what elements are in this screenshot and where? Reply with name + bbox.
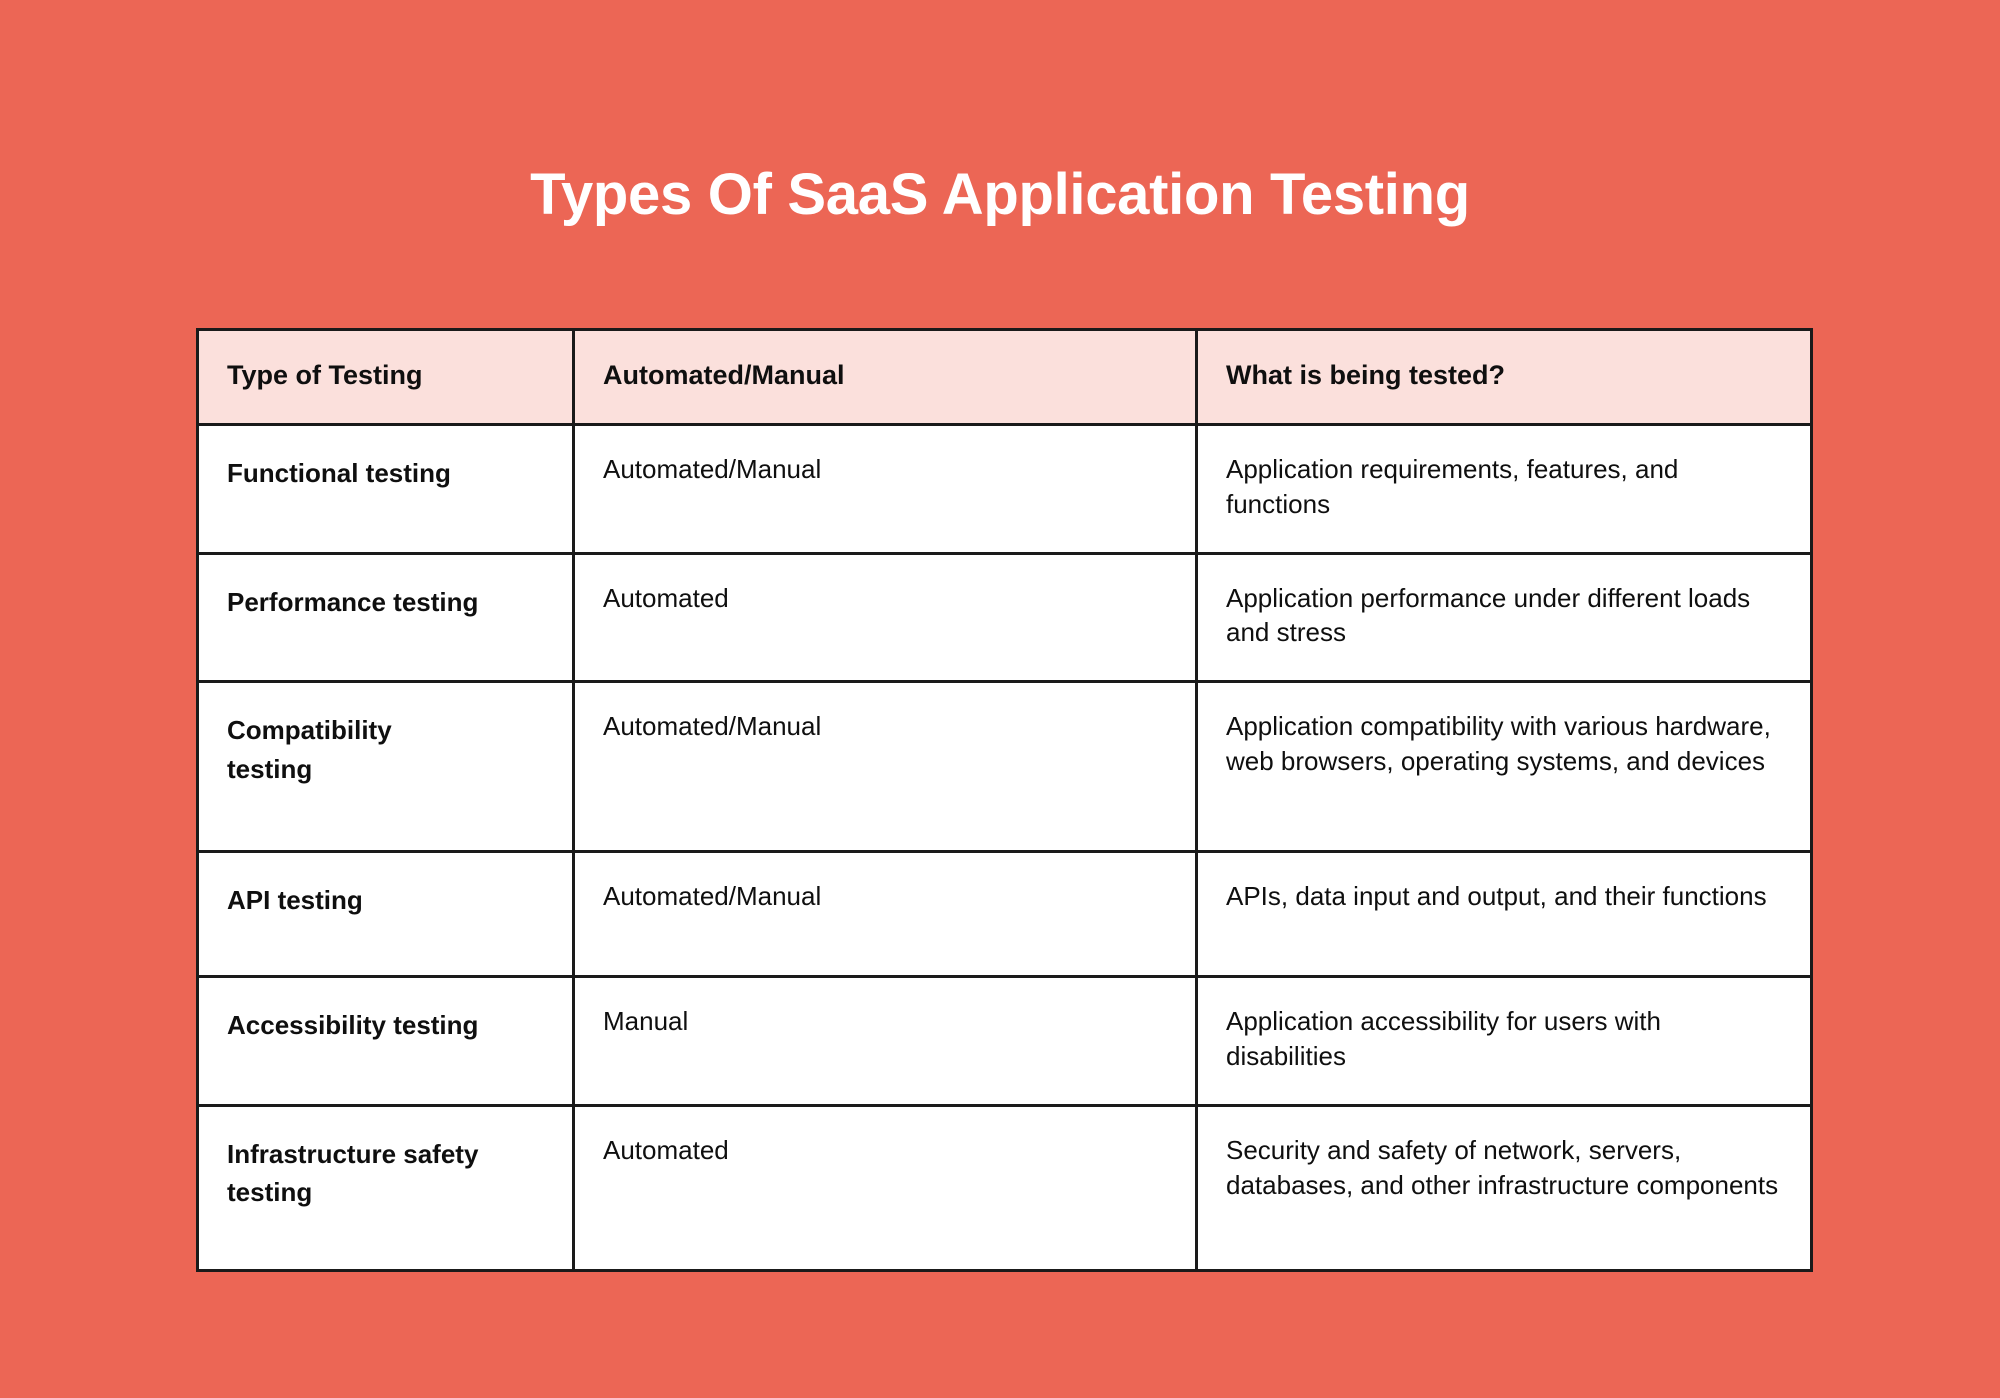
type-line: Compatibility [227, 711, 544, 749]
cell-automated-manual: Automated [574, 1105, 1197, 1270]
cell-automated-manual: Automated/Manual [574, 425, 1197, 554]
type-line: Accessibility testing [227, 1006, 544, 1044]
cell-type-of-testing: Functional testing [198, 425, 574, 554]
type-line: API testing [227, 881, 544, 919]
page-title: Types Of SaaS Application Testing [0, 163, 2000, 227]
column-header-what-is-being-tested: What is being tested? [1197, 330, 1812, 425]
cell-automated-manual: Automated [574, 553, 1197, 682]
cell-automated-manual: Automated/Manual [574, 682, 1197, 852]
type-line: testing [227, 750, 544, 788]
table-row: Accessibility testing Manual Application… [198, 977, 1812, 1106]
cell-what-is-being-tested: Application compatibility with various h… [1197, 682, 1812, 852]
testing-types-table-container: Type of Testing Automated/Manual What is… [196, 328, 1810, 1272]
table-head: Type of Testing Automated/Manual What is… [198, 330, 1812, 425]
cell-type-of-testing: Accessibility testing [198, 977, 574, 1106]
table-row: Performance testing Automated Applicatio… [198, 553, 1812, 682]
type-line: Infrastructure safety [227, 1135, 544, 1173]
table-row: Infrastructure safety testing Automated … [198, 1105, 1812, 1270]
table-row: API testing Automated/Manual APIs, data … [198, 852, 1812, 977]
cell-type-of-testing: Infrastructure safety testing [198, 1105, 574, 1270]
column-header-type-of-testing: Type of Testing [198, 330, 574, 425]
table-header-row: Type of Testing Automated/Manual What is… [198, 330, 1812, 425]
cell-what-is-being-tested: APIs, data input and output, and their f… [1197, 852, 1812, 977]
cell-automated-manual: Manual [574, 977, 1197, 1106]
column-header-automated-manual: Automated/Manual [574, 330, 1197, 425]
type-line: testing [227, 1173, 544, 1211]
table-body: Functional testing Automated/Manual Appl… [198, 425, 1812, 1271]
cell-what-is-being-tested: Application requirements, features, and … [1197, 425, 1812, 554]
type-line: Functional testing [227, 454, 544, 492]
cell-what-is-being-tested: Application accessibility for users with… [1197, 977, 1812, 1106]
table-row: Functional testing Automated/Manual Appl… [198, 425, 1812, 554]
cell-what-is-being-tested: Application performance under different … [1197, 553, 1812, 682]
type-line: Performance testing [227, 583, 544, 621]
infographic-page: Types Of SaaS Application Testing Type o… [0, 0, 2000, 1398]
table-row: Compatibility testing Automated/Manual A… [198, 682, 1812, 852]
cell-type-of-testing: API testing [198, 852, 574, 977]
cell-what-is-being-tested: Security and safety of network, servers,… [1197, 1105, 1812, 1270]
cell-type-of-testing: Performance testing [198, 553, 574, 682]
testing-types-table: Type of Testing Automated/Manual What is… [196, 328, 1813, 1272]
cell-type-of-testing: Compatibility testing [198, 682, 574, 852]
cell-automated-manual: Automated/Manual [574, 852, 1197, 977]
